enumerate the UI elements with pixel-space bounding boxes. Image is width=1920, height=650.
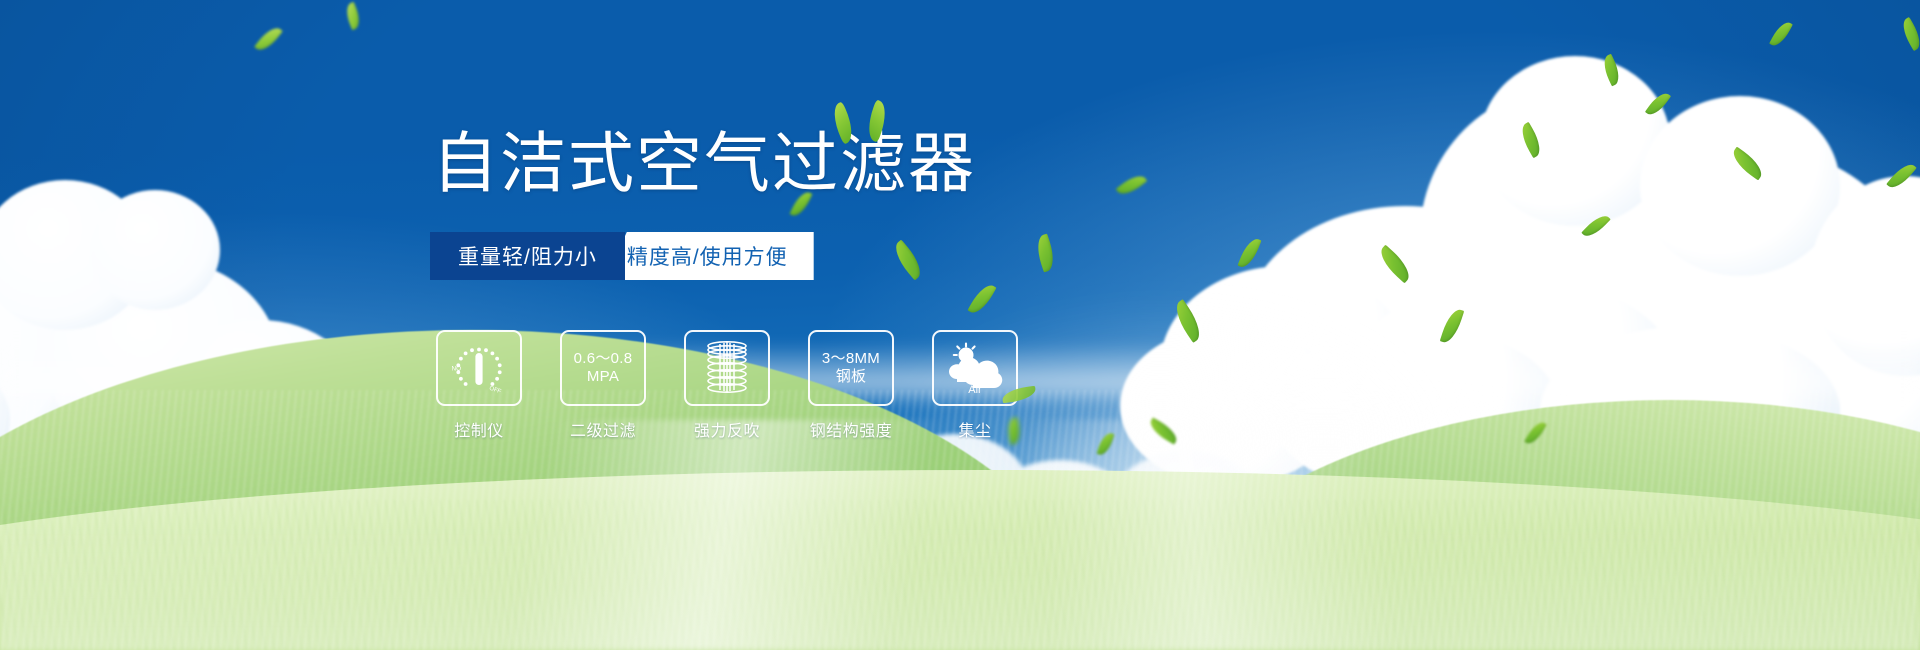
feature-item-dust-collection: Air 集尘 [932, 330, 1018, 441]
feature-tag-bar: 重量轻/阻力小 精度高/使用方便 [430, 232, 814, 280]
gauge-icon: NO OFF [448, 339, 510, 397]
title-sprout-leaves-icon [833, 93, 897, 145]
feature-item-controller: NO OFF 控制仪 [436, 330, 522, 441]
feature-caption-dust-collection: 集尘 [958, 417, 991, 441]
filter-cartridge-icon [698, 338, 756, 398]
tag-precision-convenience: 精度高/使用方便 [605, 232, 814, 280]
sprout-leaf-right-icon [863, 99, 892, 142]
pressure-value-line1: 0.6～0.8 [574, 350, 633, 368]
hero-banner: 自洁式空气过滤器 重量轻/阻力小 精度高/使用方便 [0, 0, 1920, 650]
feature-item-secondary-filtration: 0.6～0.8 MPA 二级过滤 [560, 330, 646, 441]
gauge-label-no: NO [452, 366, 462, 373]
feature-box-steel-strength: 3～8MM 钢板 [808, 330, 894, 406]
feature-icon-row: NO OFF 控制仪 0.6～0.8 MPA 二级过滤 [436, 330, 1018, 441]
gauge-label-off: OFF [488, 386, 502, 396]
steel-value-line2: 钢板 [836, 368, 867, 386]
air-label: Air [968, 384, 982, 395]
feature-caption-back-blow: 强力反吹 [694, 417, 760, 441]
feature-caption-secondary-filtration: 二级过滤 [570, 417, 636, 441]
feature-item-steel-strength: 3～8MM 钢板 钢结构强度 [808, 330, 894, 441]
feature-box-controller: NO OFF [436, 330, 522, 406]
tag-weight-resistance: 重量轻/阻力小 [430, 232, 625, 280]
feature-caption-steel-strength: 钢结构强度 [810, 417, 893, 441]
sprout-leaf-left-icon [828, 101, 859, 144]
feature-caption-controller: 控制仪 [454, 417, 504, 441]
feature-box-secondary-filtration: 0.6～0.8 MPA [560, 330, 646, 406]
pressure-value-line2: MPA [587, 368, 619, 386]
steel-value-line1: 3～8MM [822, 350, 880, 368]
cloud-air-icon: Air [943, 341, 1007, 395]
feature-item-back-blow: 强力反吹 [684, 330, 770, 441]
feature-box-back-blow [684, 330, 770, 406]
